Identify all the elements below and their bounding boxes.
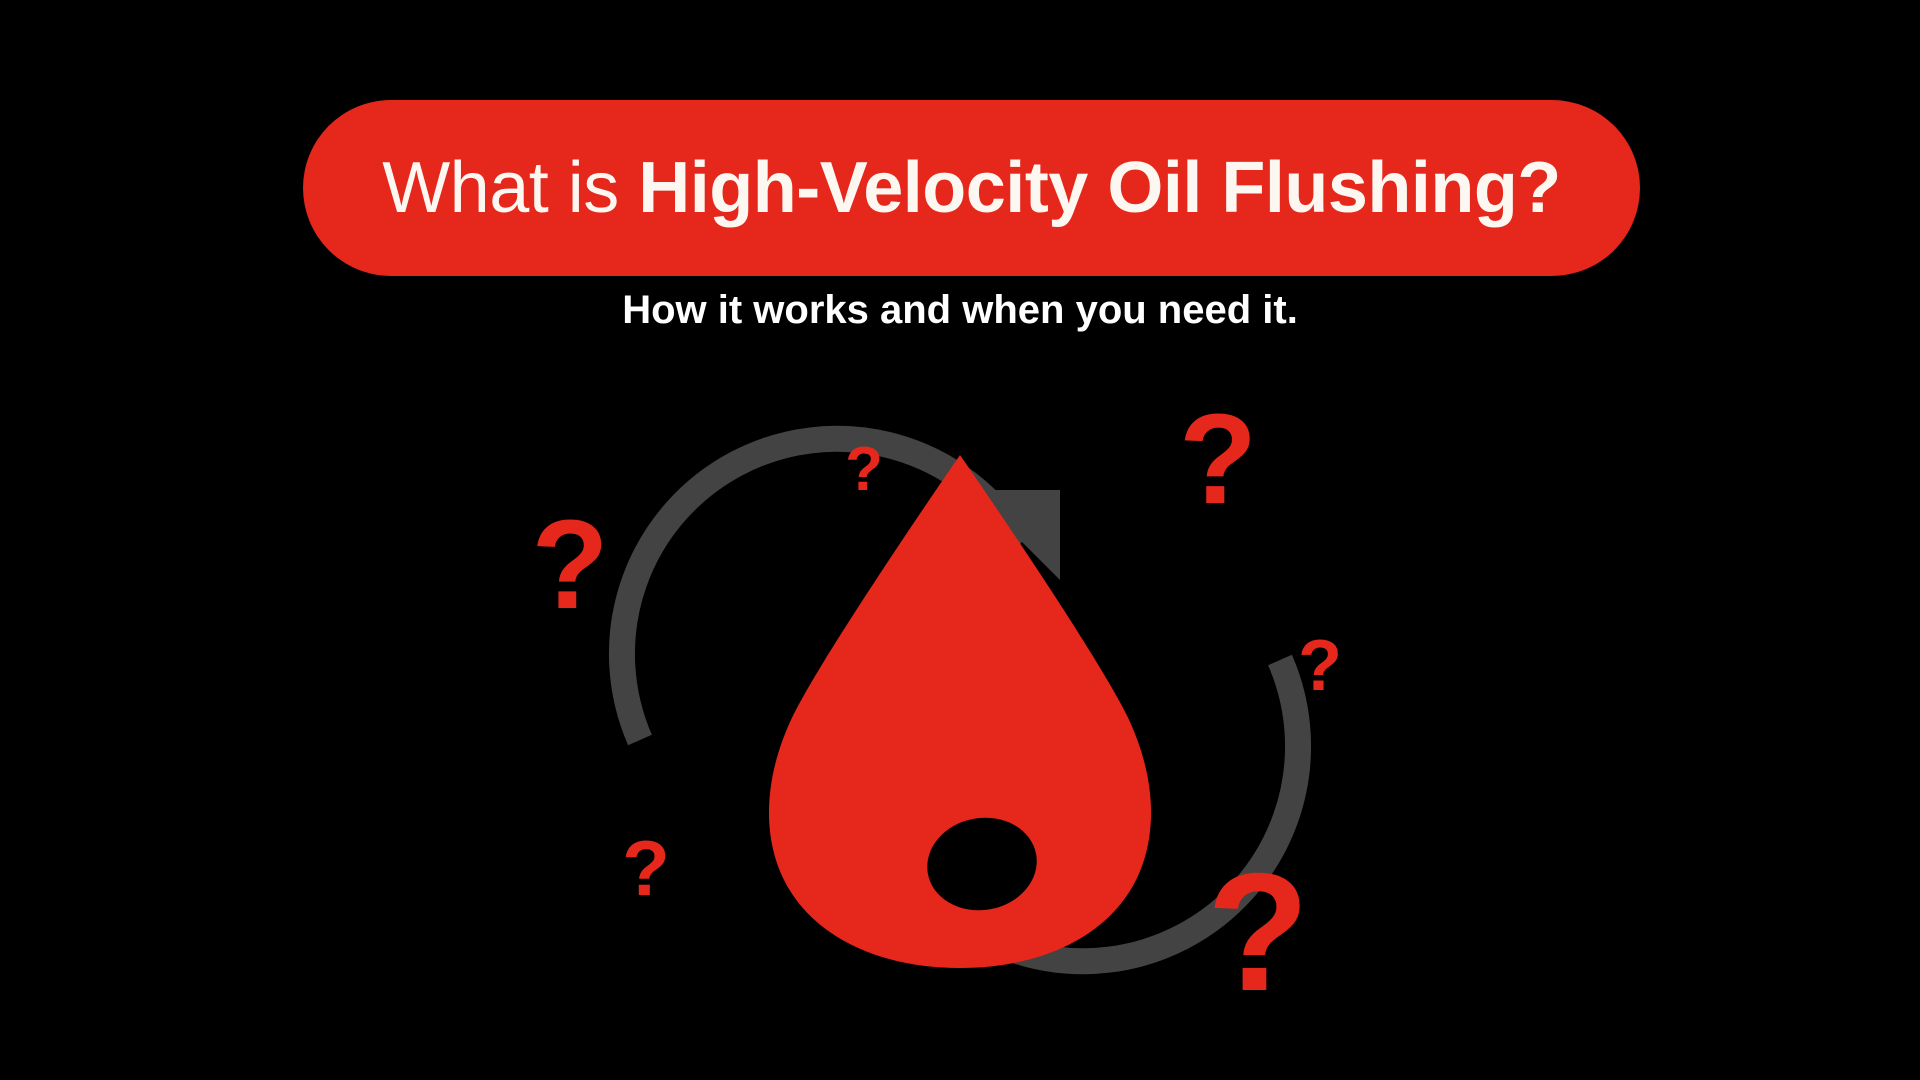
question-mark-top-center: ? bbox=[845, 435, 883, 504]
page-title: What is High-Velocity Oil Flushing? bbox=[382, 152, 1561, 224]
question-mark-mid-left: ? bbox=[532, 494, 609, 635]
question-mark-bottom-right: ? bbox=[1207, 838, 1310, 1026]
question-mark-mid-right: ? bbox=[1298, 626, 1342, 706]
oil-droplet-icon bbox=[769, 455, 1151, 968]
slide-root: What is High-Velocity Oil Flushing? How … bbox=[0, 0, 1920, 1080]
page-subtitle: How it works and when you need it. bbox=[0, 284, 1920, 336]
illustration-container: ? ? ? ? ? ? bbox=[500, 370, 1420, 1030]
question-mark-bottom-left: ? bbox=[622, 824, 670, 912]
question-mark-top-right: ? bbox=[1179, 388, 1257, 531]
page-title-prefix: What is bbox=[382, 148, 638, 228]
title-banner: What is High-Velocity Oil Flushing? bbox=[303, 100, 1640, 276]
page-title-emphasis: High-Velocity Oil Flushing? bbox=[638, 148, 1561, 228]
